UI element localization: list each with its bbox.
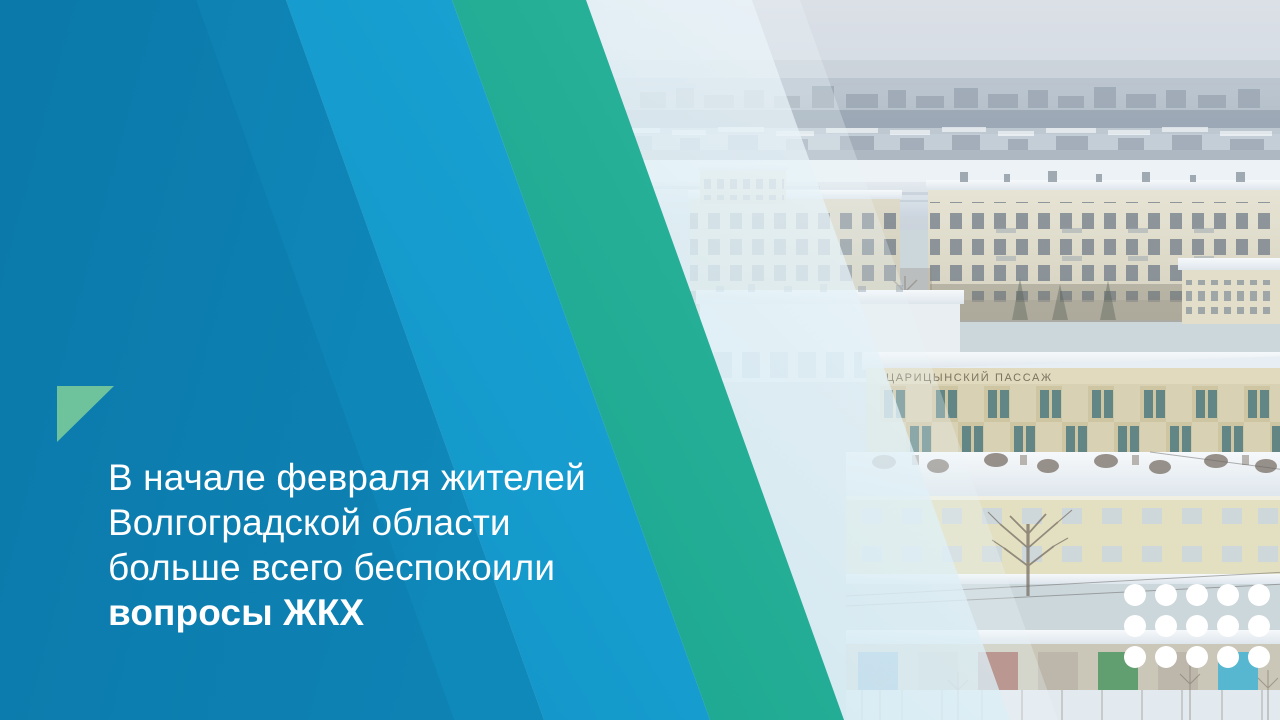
banner-image: ЦАРИЦЫНСКИЙ ПАССАЖ: [0, 0, 1280, 720]
dot: [1248, 584, 1270, 606]
dot: [1124, 646, 1146, 668]
headline: В начале февраля жителей Волгоградской о…: [108, 455, 738, 635]
headline-line-1: В начале февраля жителей: [108, 455, 738, 500]
dot: [1124, 615, 1146, 637]
dot: [1186, 615, 1208, 637]
dot-grid-decoration: [1124, 584, 1279, 677]
dot: [1155, 615, 1177, 637]
dot: [1186, 646, 1208, 668]
dot: [1186, 584, 1208, 606]
dot: [1248, 646, 1270, 668]
headline-line-2: Волгоградской области: [108, 500, 738, 545]
dot: [1217, 584, 1239, 606]
dot: [1155, 584, 1177, 606]
dot: [1217, 615, 1239, 637]
headline-line-3: больше всего беспокоили: [108, 545, 738, 590]
corner-triangle-icon: [57, 386, 114, 442]
dot: [1248, 615, 1270, 637]
dot: [1155, 646, 1177, 668]
dot: [1217, 646, 1239, 668]
headline-line-4: вопросы ЖКХ: [108, 590, 738, 635]
dot: [1124, 584, 1146, 606]
